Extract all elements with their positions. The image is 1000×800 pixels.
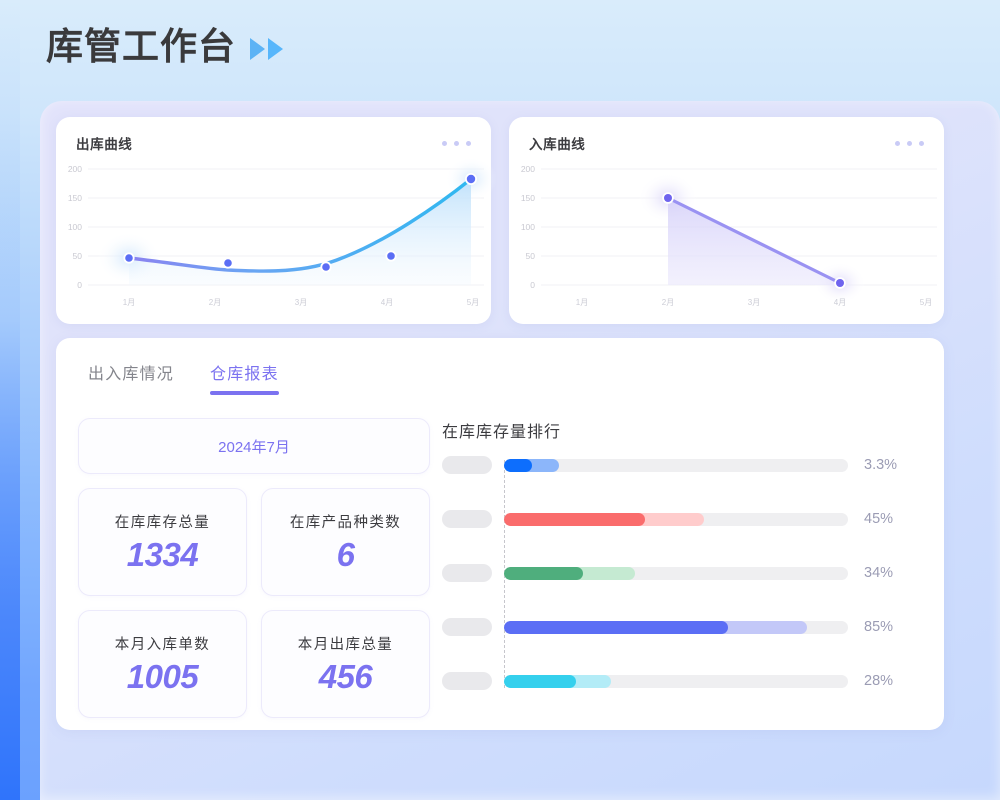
ranking-bar-dark: [504, 513, 645, 526]
left-edge-accent: [0, 0, 20, 800]
svg-text:50: 50: [526, 251, 536, 261]
chart-row: 出库曲线: [56, 117, 944, 324]
tab-bar: 出入库情况 仓库报表: [88, 360, 279, 395]
svg-text:4月: 4月: [834, 298, 846, 307]
more-dots-icon[interactable]: [895, 141, 924, 146]
triangle-right-icon: [250, 38, 265, 60]
svg-text:150: 150: [521, 193, 535, 203]
ranking-bar-dark: [504, 675, 576, 688]
stat-value: 1005: [127, 660, 198, 695]
ranking-bar-track: [504, 675, 848, 688]
inbound-chart-header: 入库曲线: [509, 117, 944, 153]
ranking-bar-track: [504, 621, 848, 634]
ranking-bar-dark: [504, 459, 532, 472]
stat-grid: 在库库存总量 1334 在库产品种类数 6 本月入库单数 1005 本月出库总量…: [78, 488, 430, 718]
svg-text:3月: 3月: [295, 298, 307, 307]
month-selector[interactable]: 2024年7月: [78, 418, 430, 474]
stat-value: 1334: [127, 538, 198, 573]
ranking-bar-track: [504, 459, 848, 472]
ranking-row[interactable]: 85%: [442, 618, 920, 636]
ranking-label-placeholder: [442, 618, 492, 636]
inbound-chart-plot: 200 150 100 50 0: [509, 157, 950, 322]
outbound-chart-card: 出库曲线: [56, 117, 491, 324]
svg-text:200: 200: [521, 164, 535, 174]
x-axis-ticks: 1月 2月 3月 4月 5月: [576, 298, 932, 307]
inbound-chart-card: 入库曲线: [509, 117, 944, 324]
ranking-percent: 45%: [864, 511, 920, 527]
svg-text:50: 50: [73, 251, 83, 261]
ranking-label-placeholder: [442, 510, 492, 528]
ranking-row[interactable]: 45%: [442, 510, 920, 528]
svg-text:0: 0: [530, 280, 535, 290]
svg-text:1月: 1月: [123, 298, 135, 307]
svg-text:1月: 1月: [576, 298, 588, 307]
y-axis-ticks: 200 150 100 50 0: [521, 164, 535, 290]
svg-text:3月: 3月: [748, 298, 760, 307]
svg-text:2月: 2月: [662, 298, 674, 307]
inbound-chart-title: 入库曲线: [529, 133, 585, 153]
stat-card-outbound-total[interactable]: 本月出库总量 456: [261, 610, 430, 718]
ranking-rows: 3.3% 45% 34%: [442, 456, 920, 690]
stat-label: 本月入库单数: [115, 633, 210, 654]
ranking-bar-dark: [504, 621, 728, 634]
ranking-percent: 28%: [864, 673, 920, 689]
stat-label: 本月出库总量: [298, 633, 393, 654]
stat-card-product-types[interactable]: 在库产品种类数 6: [261, 488, 430, 596]
svg-text:2月: 2月: [209, 298, 221, 307]
stat-column: 2024年7月 在库库存总量 1334 在库产品种类数 6 本月入库单数 100…: [78, 418, 430, 718]
stat-value: 456: [319, 660, 373, 695]
svg-text:5月: 5月: [920, 298, 932, 307]
page-title: 库管工作台: [46, 28, 236, 65]
ranking-percent: 34%: [864, 565, 920, 581]
ranking-label-placeholder: [442, 672, 492, 690]
ranking-label-placeholder: [442, 456, 492, 474]
more-dots-icon[interactable]: [442, 141, 471, 146]
outbound-chart-plot: 200 150 100 50 0: [56, 157, 497, 322]
ranking-row[interactable]: 34%: [442, 564, 920, 582]
svg-text:150: 150: [68, 193, 82, 203]
svg-text:100: 100: [521, 222, 535, 232]
y-axis-ticks: 200 150 100 50 0: [68, 164, 82, 290]
stat-value: 6: [337, 538, 355, 573]
tab-warehouse-report[interactable]: 仓库报表: [210, 360, 279, 395]
ranking-percent: 85%: [864, 619, 920, 635]
tab-inbound-outbound[interactable]: 出入库情况: [88, 360, 174, 395]
ranking-label-placeholder: [442, 564, 492, 582]
stat-card-inbound-orders[interactable]: 本月入库单数 1005: [78, 610, 247, 718]
ranking-row[interactable]: 3.3%: [442, 456, 920, 474]
stock-ranking: 在库库存量排行 3.3% 45%: [442, 418, 920, 690]
svg-text:0: 0: [77, 280, 82, 290]
svg-text:5月: 5月: [467, 298, 479, 307]
svg-text:200: 200: [68, 164, 82, 174]
outbound-chart-title: 出库曲线: [76, 133, 132, 153]
ranking-bar-dark: [504, 567, 583, 580]
stat-label: 在库库存总量: [115, 511, 210, 532]
ranking-percent: 3.3%: [864, 457, 920, 473]
svg-text:100: 100: [68, 222, 82, 232]
svg-text:4月: 4月: [381, 298, 393, 307]
x-axis-ticks: 1月 2月 3月 4月 5月: [123, 298, 479, 307]
page-header: 库管工作台: [46, 28, 283, 65]
triangle-right-icon: [268, 38, 283, 60]
double-triangle-right-icon: [250, 38, 283, 60]
ranking-bar-track: [504, 513, 848, 526]
ranking-bar-track: [504, 567, 848, 580]
report-panel: 出入库情况 仓库报表 2024年7月 在库库存总量 1334 在库产品种类数 6…: [56, 338, 944, 730]
stat-card-total-stock[interactable]: 在库库存总量 1334: [78, 488, 247, 596]
outbound-chart-header: 出库曲线: [56, 117, 491, 153]
stat-label: 在库产品种类数: [290, 511, 401, 532]
ranking-row[interactable]: 28%: [442, 672, 920, 690]
ranking-title: 在库库存量排行: [442, 418, 920, 442]
